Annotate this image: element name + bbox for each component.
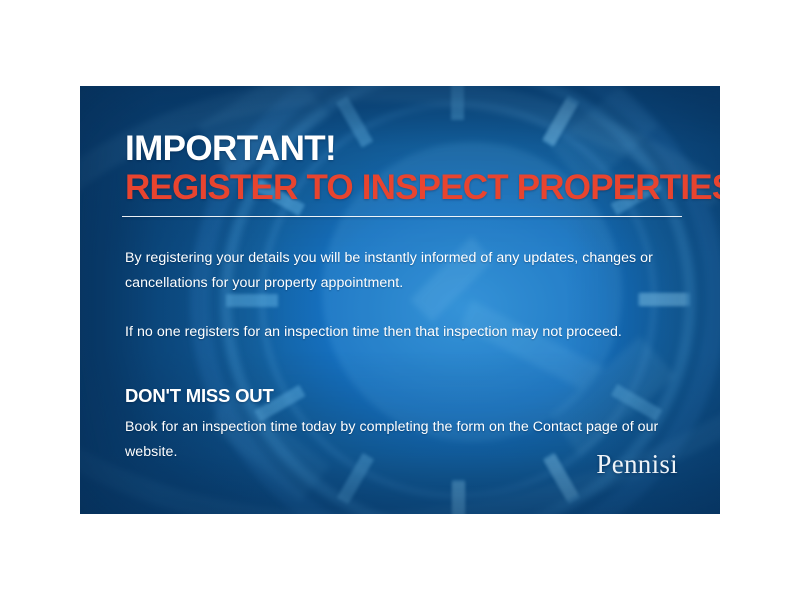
subheading-dont-miss-out: DON'T MISS OUT: [125, 385, 671, 407]
headline-secondary: REGISTER TO INSPECT PROPERTIES: [125, 170, 720, 205]
paragraph-registering-details: By registering your details you will be …: [125, 246, 671, 296]
headline-divider-rule: [122, 216, 682, 217]
headline-block: IMPORTANT! REGISTER TO INSPECT PROPERTIE…: [125, 131, 720, 205]
paragraph-book-inspection: Book for an inspection time today by com…: [125, 415, 671, 465]
headline-primary: IMPORTANT!: [125, 131, 720, 166]
paragraph-inspection-may-not-proceed: If no one registers for an inspection ti…: [125, 320, 671, 345]
screenshot-canvas: IMPORTANT! REGISTER TO INSPECT PROPERTIE…: [0, 0, 800, 600]
inspection-registration-poster: IMPORTANT! REGISTER TO INSPECT PROPERTIE…: [80, 86, 720, 514]
pennisi-logo: Pennisi: [596, 451, 678, 478]
dont-miss-out-block: DON'T MISS OUT Book for an inspection ti…: [125, 385, 671, 465]
body-copy-block: By registering your details you will be …: [125, 246, 671, 465]
